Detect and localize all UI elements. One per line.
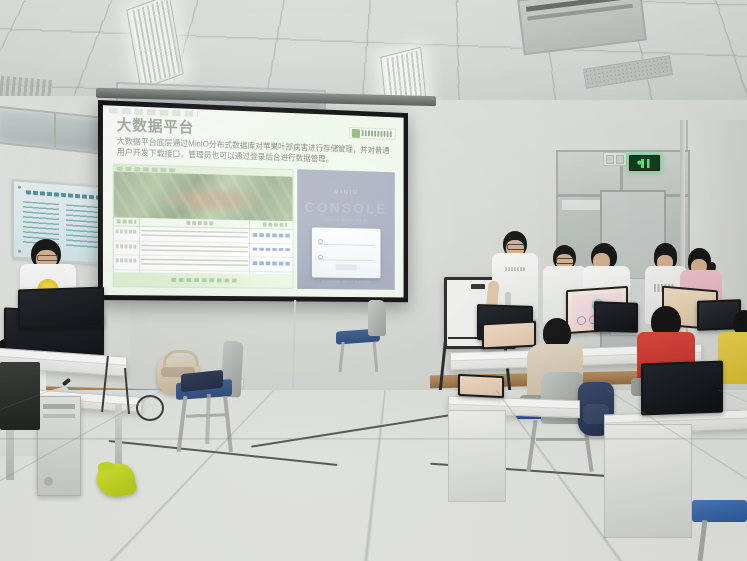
- glasses-icon: [507, 244, 525, 250]
- equipment-box: [0, 362, 40, 430]
- laptop: [482, 321, 536, 350]
- chair-back: [368, 300, 386, 336]
- chair-crossbar: [536, 438, 588, 441]
- slide-title: 大数据平台: [117, 114, 194, 138]
- notice-board-title: [26, 190, 100, 199]
- monitor: [18, 286, 104, 329]
- slide-body-text: 大数据平台底层通过MinIO分布式数据库对苹果叶部病害进行存储管理，并对普通用户…: [117, 136, 393, 167]
- classroom-photo-scene: 大数据平台 大数据平台底层通过MinIO分布式数据库对苹果叶部病害进行存储管理，…: [0, 0, 747, 561]
- monitor: [594, 301, 638, 333]
- desk-modesty-panel: [448, 410, 506, 502]
- exit-sign: [629, 155, 660, 171]
- console-subheading: Object Store for AI: [297, 217, 395, 224]
- presentation-slide: 大数据平台 大数据平台底层通过MinIO分布式数据库对苹果叶部病害进行存储管理，…: [103, 105, 404, 297]
- minio-brand: MINIO: [297, 189, 395, 197]
- login-card: [312, 227, 381, 278]
- apple-leaf-disease-photo: [114, 171, 293, 221]
- password-field[interactable]: [318, 253, 374, 262]
- glasses-icon: [556, 258, 574, 264]
- dataset-table: [114, 217, 293, 274]
- dataset-website-screenshot: [113, 163, 294, 288]
- desk-modesty-panel: [604, 424, 692, 538]
- username-field[interactable]: [318, 237, 374, 246]
- monitor: [641, 361, 723, 416]
- login-button[interactable]: [336, 264, 358, 270]
- console-heading: CONSOLE: [297, 199, 395, 218]
- minio-console-login: MINIO CONSOLE Object Store for AI Copyri…: [297, 169, 395, 290]
- university-logo: [349, 127, 396, 140]
- desk-leg: [115, 404, 122, 464]
- projection-screen: 大数据平台 大数据平台底层通过MinIO分布式数据库对苹果叶部病害进行存储管理，…: [98, 100, 408, 302]
- logo-wordmark: [362, 130, 393, 137]
- logo-mark-icon: [352, 128, 360, 137]
- console-footer: Copyright MinIO Console: [297, 278, 395, 284]
- coiled-cable: [136, 395, 164, 421]
- power-button[interactable]: [44, 477, 53, 486]
- light-switch-plate[interactable]: [603, 152, 627, 166]
- laptop: [458, 374, 504, 398]
- whiteboard-clip: [471, 284, 485, 289]
- pc-tower: [37, 396, 81, 496]
- glasses-icon: [37, 255, 58, 261]
- chair-seat: [692, 500, 747, 522]
- running-man-icon: [635, 159, 655, 168]
- website-footer-bar: [114, 272, 293, 288]
